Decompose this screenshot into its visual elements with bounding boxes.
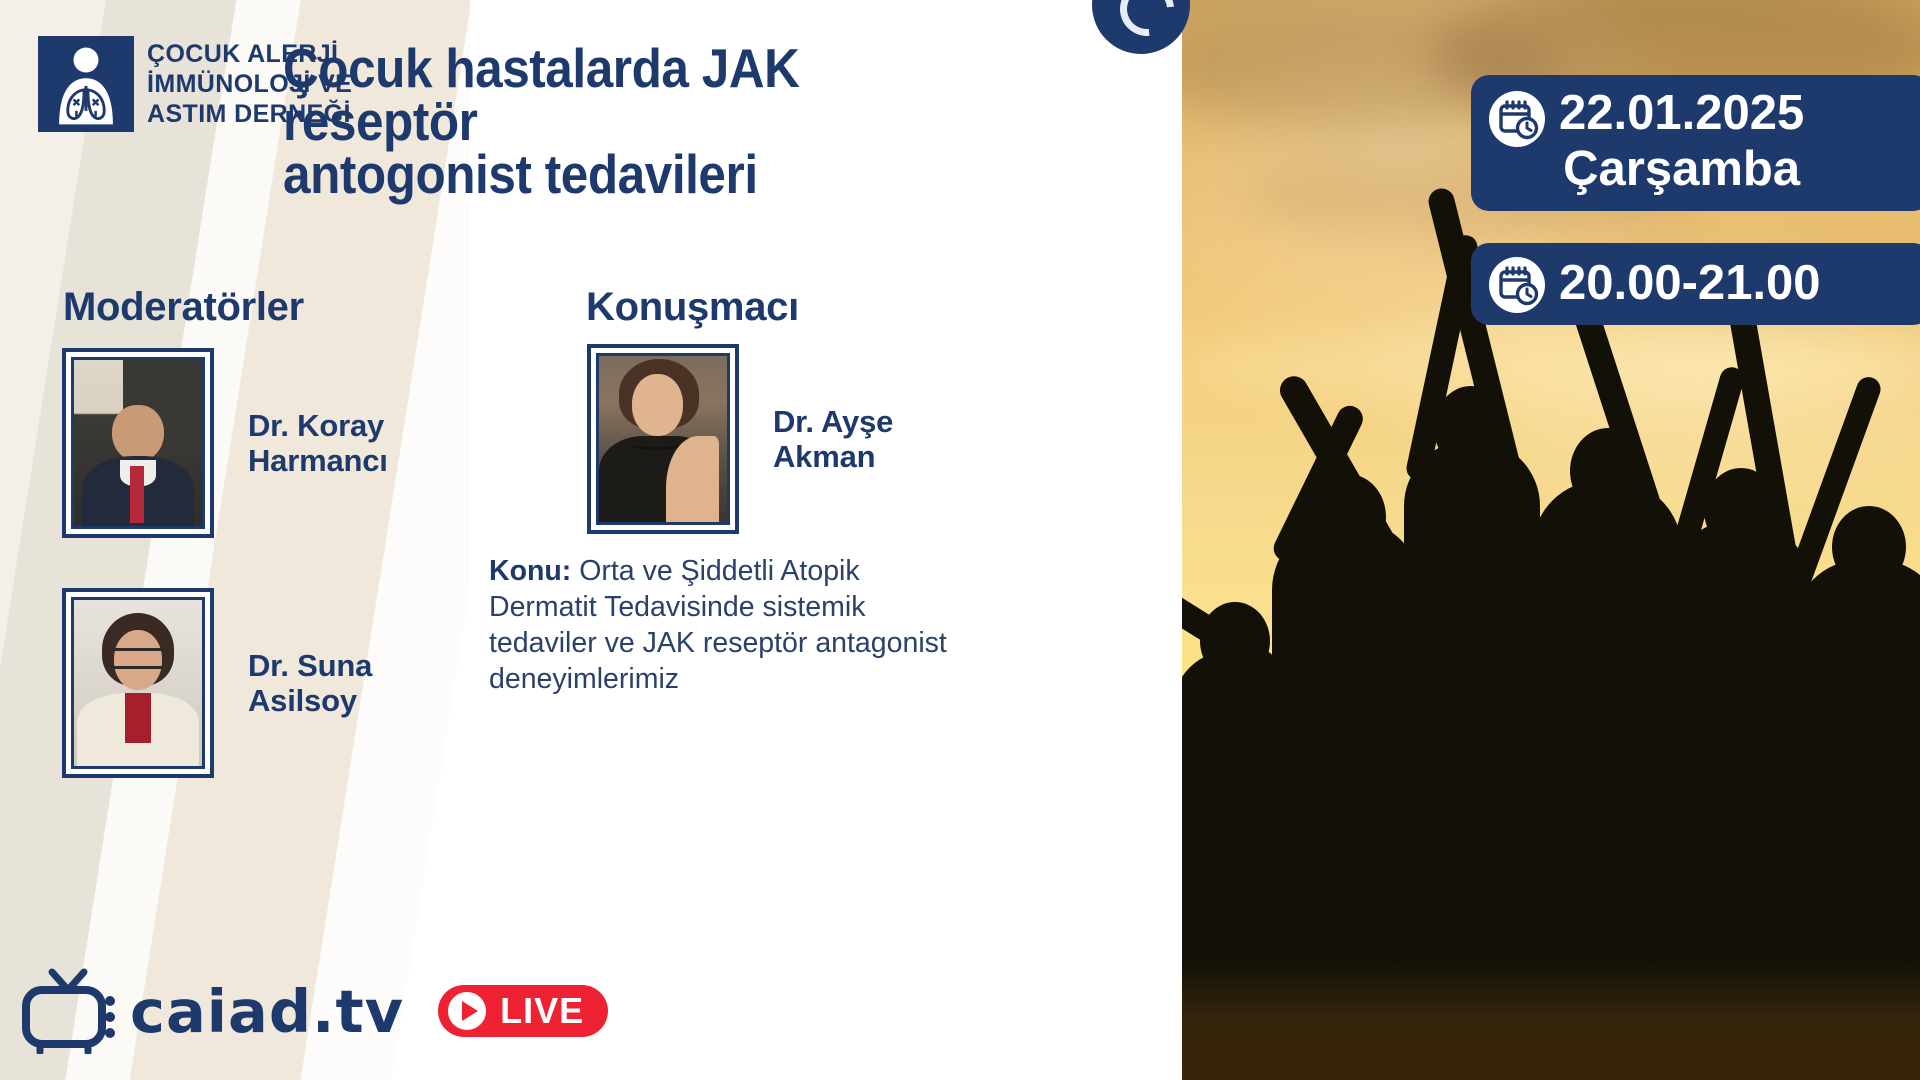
speaker-photo [596,353,730,525]
calendar-clock-icon [1489,91,1545,147]
live-label: LIVE [500,990,584,1032]
date-badge: 22.01.2025 Çarşamba [1471,75,1920,211]
moderator-photo-1 [71,357,205,529]
speaker-heading: Konuşmacı [586,285,799,330]
photo-frame [62,588,214,778]
event-time: 20.00-21.00 [1559,256,1821,310]
brand-name[interactable]: caiad.tv [130,977,404,1046]
moderator-card-2: Dr. Suna Asilsoy [62,588,372,778]
play-circle-icon [444,988,490,1034]
moderator-name-1: Dr. Koray Harmancı [248,408,388,479]
speaker-card: Dr. Ayşe Akman [587,344,893,534]
event-date: 22.01.2025 [1559,86,1804,140]
tv-icon [22,968,118,1054]
photo-frame [587,344,739,534]
webinar-poster: ÇOCUK ALERJİ İMMÜNOLOJİ VE ASTIM DERNEĞİ… [0,0,1920,1080]
lungs-person-icon [38,36,134,132]
moderator-name-2: Dr. Suna Asilsoy [248,648,372,719]
footer-brand-bar: caiad.tv LIVE [22,968,608,1054]
moderator-photo-2 [71,597,205,769]
time-badge-text: 20.00-21.00 [1559,259,1821,309]
moderator-card-1: Dr. Koray Harmancı [62,348,388,538]
topic-label: Konu: [489,555,571,587]
date-badge-text: 22.01.2025 Çarşamba [1559,89,1804,195]
speaker-name: Dr. Ayşe Akman [773,404,893,475]
calendar-clock-icon [1489,257,1545,313]
event-day: Çarşamba [1559,145,1804,195]
topic-description: Konu: Orta ve Şiddetli Atopik Dermatit T… [489,554,971,698]
live-badge[interactable]: LIVE [438,985,608,1037]
page-title: Çocuk hastalarda JAK reseptör antogonist… [283,42,913,200]
moderators-heading: Moderatörler [63,285,304,330]
time-badge: 20.00-21.00 [1471,243,1920,325]
ground-shadow [1182,960,1920,1080]
photo-frame [62,348,214,538]
